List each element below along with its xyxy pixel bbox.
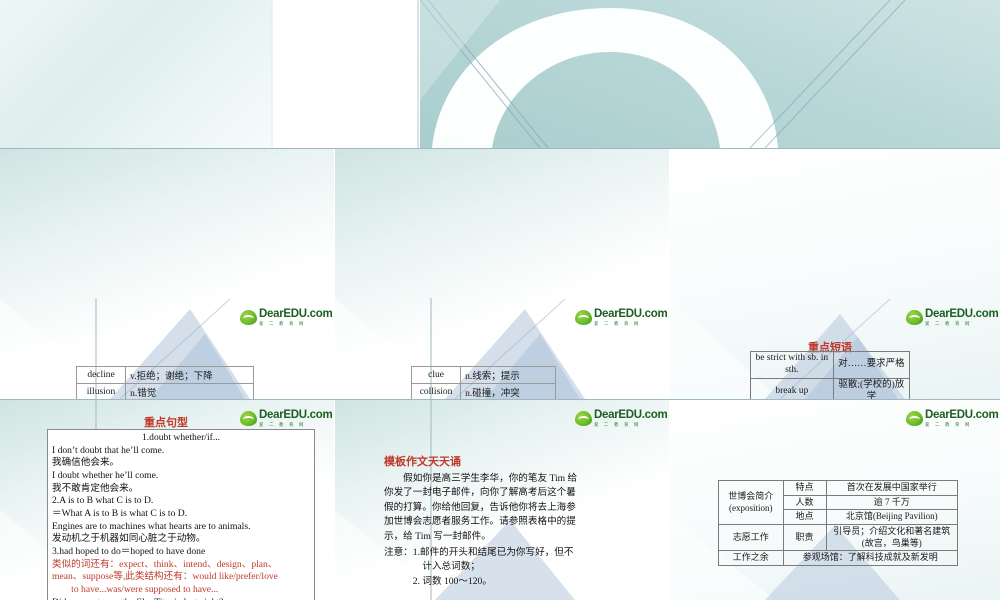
logo-subtitle: 爱 二 教 育 网 [259,423,332,427]
model-essay-body: 假如你是高三学生李华，你的笔友 Tim 给你发了一封电子邮件，向你了解高考后这个… [384,472,634,589]
banner-arch-decoration [420,0,1000,148]
table-row: collisionn.碰撞，冲突 [412,384,556,400]
essay-note-line: 2. 词数 100～120。 [384,575,634,589]
slide-page: DearEDU.com 爱 二 教 育 网 declinev.拒绝；谢绝；下降i… [0,0,1000,600]
panel1-decoration [0,149,334,399]
sentence-line: ＝What A is to B is what C is to D. [52,508,310,521]
vocab-word: collision [412,384,461,400]
essay-line: 示，给 Tim 写一封邮件。 [384,530,634,544]
expo-category: 志愿工作 [719,525,784,551]
expo-field: 人数 [783,495,826,510]
dearedu-leaf-icon [906,411,923,426]
sentence-line: Did you go to see the film Titanic last … [52,597,310,600]
logo-subtitle: 爱 二 教 育 网 [594,322,667,326]
table-row: 志愿工作职责引导员；介绍文化和著名建筑(故宫，鸟巢等) [719,525,958,551]
phrase-cell: break up [751,378,834,399]
vocabulary-table-1: declinev.拒绝；谢绝；下降illusionn.错觉likelihoodn… [76,366,254,399]
dearedu-logo: DearEDU.com 爱 二 教 育 网 [575,410,667,427]
vocab-word: clue [412,367,461,384]
sentence-line: 我不敢肯定他会来。 [52,483,310,496]
vocab-definition: v.拒绝；谢绝；下降 [126,367,253,384]
sentence-line: mean、suppose等,此类结构还有：would like/prefer/l… [52,571,310,584]
vocabulary-table-2: cluen.线索；提示collisionn.碰撞，冲突devicen.装置，设备… [411,366,556,399]
expo-field: 地点 [783,510,826,525]
panel-vocabulary-2: DearEDU.com 爱 二 教 育 网 cluen.线索；提示collisi… [335,149,669,399]
logo-name: DearEDU.com [925,309,998,321]
dearedu-leaf-icon [575,411,592,426]
expo-field: 参观场馆：了解科技成就及新发明 [783,551,957,566]
banner-left-lines [0,0,430,148]
dearedu-logo: DearEDU.com 爱 二 教 育 网 [575,309,667,326]
sentence-line: 类似的词还有：expect、think、intend、design、plan、 [52,559,310,572]
expo-field: 职责 [783,525,826,551]
sentence-line: 2.A is to B what C is to D. [52,495,310,508]
vocab-word: decline [77,367,126,384]
dearedu-logo: DearEDU.com 爱 二 教 育 网 [906,410,998,427]
top-banner [0,0,1000,148]
panel-key-sentences: DearEDU.com 爱 二 教 育 网 重点句型 1.doubt wheth… [0,400,334,600]
sentence-line: 3.had hoped to do＝hoped to have done [52,546,310,559]
key-phrases-table: be strict with sb. in sth.对……要求严格break u… [750,351,910,399]
essay-line: 加世博会志愿者服务工作。请参照表格中的提 [384,515,634,529]
expo-value: 首次在发展中国家举行 [826,481,957,496]
sentence-line: Engines are to machines what hearts are … [52,521,310,534]
logo-subtitle: 爱 二 教 育 网 [594,423,667,427]
sentence-line: 1.doubt whether/if... [52,432,310,445]
table-row: 工作之余参观场馆：了解科技成就及新发明 [719,551,958,566]
expo-category: 世博会简介 (exposition) [719,481,784,525]
key-sentences-box: 1.doubt whether/if...I don’t doubt that … [47,429,315,600]
logo-subtitle: 爱 二 教 育 网 [925,423,998,427]
dearedu-leaf-icon [575,310,592,325]
panel-model-essay: DearEDU.com 爱 二 教 育 网 模板作文天天诵 假如你是高三学生李华… [335,400,669,600]
logo-name: DearEDU.com [259,410,332,422]
expo-value: 北京馆(Beijing Pavilion) [826,510,957,525]
dearedu-leaf-icon [240,411,257,426]
sentence-line: I doubt whether he’ll come. [52,470,310,483]
panel2-decoration [335,149,669,399]
vocab-definition: n.碰撞，冲突 [461,384,556,400]
logo-name: DearEDU.com [594,410,667,422]
vocab-definition: n.错觉 [126,384,253,400]
phrase-meaning-cell: 对……要求严格 [833,352,909,379]
dearedu-logo: DearEDU.com 爱 二 教 育 网 [906,309,998,326]
table-row: declinev.拒绝；谢绝；下降 [77,367,254,384]
phrase-cell: be strict with sb. in sth. [751,352,834,379]
expo-category: 工作之余 [719,551,784,566]
dearedu-logo: DearEDU.com 爱 二 教 育 网 [240,309,332,326]
logo-name: DearEDU.com [594,309,667,321]
essay-line: 假如你是高三学生李华，你的笔友 Tim 给 [384,472,634,486]
dearedu-leaf-icon [906,310,923,325]
logo-name: DearEDU.com [925,410,998,422]
expo-value: 引导员；介绍文化和著名建筑(故宫，鸟巢等) [826,525,957,551]
expo-info-table: 世博会简介 (exposition)特点首次在发展中国家举行人数逾 7 千万地点… [718,480,958,566]
vocab-word: illusion [77,384,126,400]
section-title-key-sentences: 重点句型 [144,414,188,430]
essay-line: 假的打算。你给他回复，告诉他你将去上海参 [384,501,634,515]
panel-vocabulary-1: DearEDU.com 爱 二 教 育 网 declinev.拒绝；谢绝；下降i… [0,149,334,399]
logo-subtitle: 爱 二 教 育 网 [259,322,332,326]
dearedu-leaf-icon [240,310,257,325]
sentence-line: 发动机之于机器如同心脏之于动物。 [52,533,310,546]
logo-subtitle: 爱 二 教 育 网 [925,322,998,326]
table-row: illusionn.错觉 [77,384,254,400]
vocab-definition: n.线索；提示 [461,367,556,384]
sentence-line: I don’t doubt that he’ll come. [52,445,310,458]
panel-key-phrases: DearEDU.com 爱 二 教 育 网 重点短语 be strict wit… [670,149,1000,399]
table-row: be strict with sb. in sth.对……要求严格 [751,352,910,379]
dearedu-logo: DearEDU.com 爱 二 教 育 网 [240,410,332,427]
sentence-line: 我确信他会来。 [52,457,310,470]
table-row: cluen.线索；提示 [412,367,556,384]
logo-name: DearEDU.com [259,309,332,321]
phrase-meaning-cell: 驱散;(学校的)放学 [833,378,909,399]
essay-note-line: 注意：1.邮件的开头和结尾已为你写好，但不 [384,546,634,560]
essay-line: 你发了一封电子邮件，向你了解高考后这个暑 [384,486,634,500]
table-row: 世博会简介 (exposition)特点首次在发展中国家举行 [719,481,958,496]
expo-field: 特点 [783,481,826,496]
sentence-line: to have...was/were supposed to have... [52,584,310,597]
expo-value: 逾 7 千万 [826,495,957,510]
essay-note-line: 计入总词数； [384,560,634,574]
table-row: break up驱散;(学校的)放学 [751,378,910,399]
panel-expo-table: DearEDU.com 爱 二 教 育 网 世博会简介 (exposition)… [670,400,1000,600]
section-title-model-essay: 模板作文天天诵 [384,453,461,469]
